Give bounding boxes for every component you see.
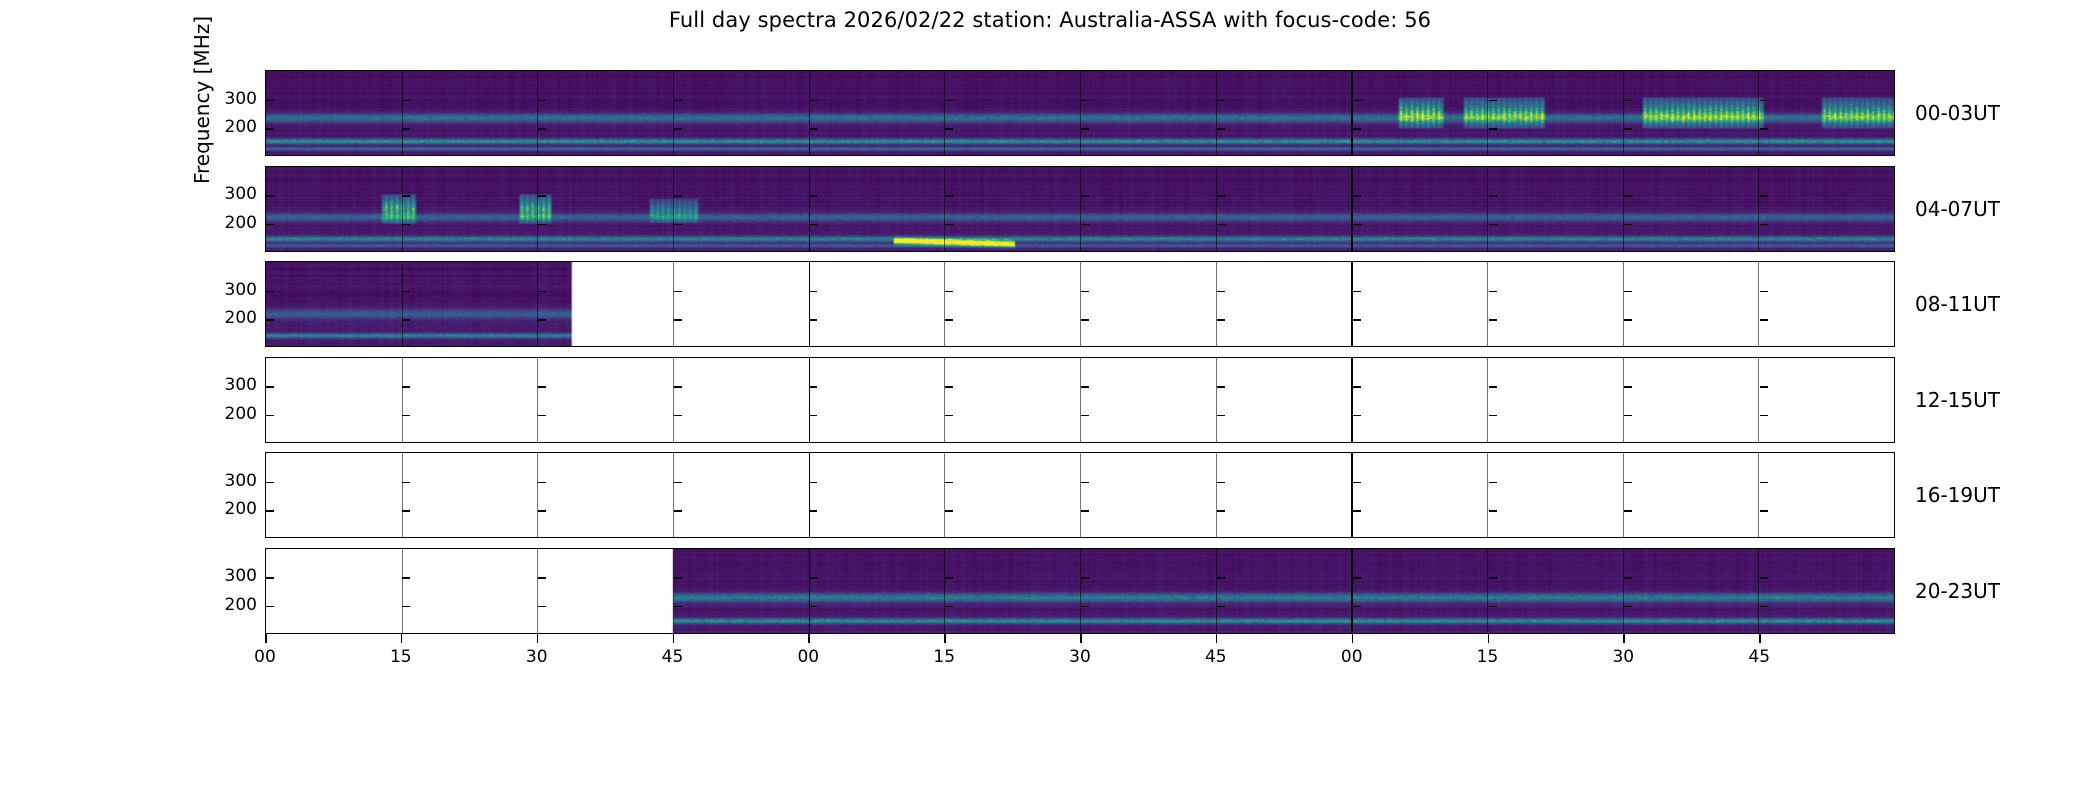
y-tick-label: 200 [225, 595, 257, 615]
x-tick [265, 634, 267, 643]
panel-divider [944, 453, 945, 537]
panel-divider [1487, 262, 1488, 346]
panel-divider [1758, 358, 1759, 442]
panel-divider [673, 453, 674, 537]
y-tick [266, 291, 274, 293]
panel-divider [1216, 167, 1217, 251]
x-tick-label: 00 [254, 647, 276, 667]
y-tick [945, 195, 953, 197]
row-label-12-15ut: 12-15UT [1915, 388, 2000, 412]
panel-divider [1623, 549, 1624, 633]
spectrogram-row-20-23ut [265, 548, 1895, 634]
x-tick [673, 634, 675, 643]
y-tick [1489, 319, 1497, 321]
y-tick [402, 415, 410, 417]
panel-divider [402, 262, 403, 346]
y-tick [945, 224, 953, 226]
y-tick [1353, 291, 1361, 293]
panel-divider [809, 167, 811, 251]
panel-divider [1080, 453, 1081, 537]
y-tick [1353, 319, 1361, 321]
panel-divider [1216, 71, 1217, 155]
y-tick [1624, 224, 1632, 226]
y-tick [674, 415, 682, 417]
panel-divider [673, 549, 674, 633]
y-tick [945, 415, 953, 417]
y-tick [1624, 606, 1632, 608]
y-axis-label: Frequency [MHz] [190, 0, 214, 260]
y-tick [1353, 128, 1361, 130]
panel-divider [1216, 262, 1217, 346]
y-tick [265, 100, 266, 102]
panel-divider [1623, 71, 1624, 155]
y-tick [265, 224, 266, 226]
y-tick [1081, 195, 1089, 197]
y-tick [265, 128, 266, 130]
y-tick [1760, 415, 1768, 417]
panel-divider [1487, 358, 1488, 442]
y-tick-label: 300 [225, 89, 257, 109]
y-tick [1624, 482, 1632, 484]
panel-divider [809, 71, 811, 155]
y-tick [809, 577, 817, 579]
y-tick [674, 577, 682, 579]
y-tick [945, 386, 953, 388]
y-tick [266, 319, 274, 321]
y-tick [1489, 386, 1497, 388]
x-tick [1216, 634, 1218, 643]
y-tick [1489, 415, 1497, 417]
y-tick [266, 510, 274, 512]
y-tick [402, 577, 410, 579]
panel-divider [1487, 453, 1488, 537]
y-tick [265, 291, 266, 293]
y-tick [1760, 195, 1768, 197]
panel-divider [1351, 549, 1353, 633]
panel-divider [537, 167, 538, 251]
y-tick [265, 606, 266, 608]
y-tick [1353, 510, 1361, 512]
y-tick [1353, 195, 1361, 197]
panel-divider [1758, 549, 1759, 633]
y-tick [538, 510, 546, 512]
y-tick [809, 415, 817, 417]
x-tick [1623, 634, 1625, 643]
y-tick [538, 128, 546, 130]
y-tick [538, 577, 546, 579]
page-title: Full day spectra 2026/02/22 station: Aus… [0, 8, 2100, 32]
panel-divider [1758, 167, 1759, 251]
panel-divider [673, 167, 674, 251]
y-tick [538, 606, 546, 608]
y-tick [674, 291, 682, 293]
y-tick [1353, 224, 1361, 226]
y-tick [945, 577, 953, 579]
row-label-08-11ut: 08-11UT [1915, 292, 2000, 316]
y-tick [402, 510, 410, 512]
y-tick [674, 224, 682, 226]
panel-divider [944, 358, 945, 442]
y-tick [1353, 415, 1361, 417]
panel-divider [809, 549, 811, 633]
y-tick [1081, 510, 1089, 512]
y-tick [266, 195, 274, 197]
panel-divider [1351, 453, 1353, 537]
y-tick [1624, 319, 1632, 321]
panel-divider [402, 167, 403, 251]
panel-divider [673, 262, 674, 346]
y-tick [1217, 577, 1225, 579]
panel-divider [673, 358, 674, 442]
y-tick [1353, 606, 1361, 608]
y-tick [945, 510, 953, 512]
x-tick-label: 45 [1748, 647, 1770, 667]
y-tick [1217, 224, 1225, 226]
x-tick-label: 15 [1477, 647, 1499, 667]
panel-divider [1351, 167, 1353, 251]
panel-divider [944, 262, 945, 346]
y-tick [1081, 606, 1089, 608]
y-tick [1081, 415, 1089, 417]
y-tick-label: 300 [225, 184, 257, 204]
y-tick [1489, 510, 1497, 512]
y-tick [1081, 100, 1089, 102]
panel-divider [1623, 453, 1624, 537]
y-tick [402, 100, 410, 102]
y-tick [945, 482, 953, 484]
spectrogram-row-08-11ut [265, 261, 1895, 347]
y-tick [266, 415, 274, 417]
x-tick [1488, 634, 1490, 643]
y-tick [1081, 577, 1089, 579]
y-tick [1353, 482, 1361, 484]
y-tick [1217, 100, 1225, 102]
y-tick [266, 577, 274, 579]
y-tick [1624, 195, 1632, 197]
x-tick [944, 634, 946, 643]
y-tick [1081, 128, 1089, 130]
panel-divider [673, 71, 674, 155]
panel-divider [944, 71, 945, 155]
y-tick [674, 128, 682, 130]
y-tick [1353, 577, 1361, 579]
x-tick [1759, 634, 1761, 643]
y-tick-label: 300 [225, 375, 257, 395]
y-tick [266, 100, 274, 102]
y-tick [1489, 128, 1497, 130]
y-tick [945, 128, 953, 130]
y-tick [265, 415, 266, 417]
y-tick [1624, 386, 1632, 388]
y-tick [1760, 386, 1768, 388]
y-tick [402, 386, 410, 388]
y-tick [1081, 291, 1089, 293]
x-tick-label: 30 [1612, 647, 1634, 667]
y-tick [538, 224, 546, 226]
panel-divider [1758, 453, 1759, 537]
y-tick [1489, 577, 1497, 579]
x-tick-label: 45 [662, 647, 684, 667]
y-tick [809, 291, 817, 293]
y-tick [809, 100, 817, 102]
panel-divider [1216, 453, 1217, 537]
panel-divider [809, 262, 811, 346]
y-tick [266, 606, 274, 608]
y-tick [674, 482, 682, 484]
y-tick [402, 128, 410, 130]
panel-divider [537, 71, 538, 155]
y-tick [1217, 128, 1225, 130]
y-tick-label: 300 [225, 566, 257, 586]
y-tick [266, 482, 274, 484]
y-tick [674, 100, 682, 102]
y-tick [1760, 510, 1768, 512]
row-label-00-03ut: 00-03UT [1915, 101, 2000, 125]
y-tick [538, 415, 546, 417]
y-tick [538, 100, 546, 102]
panel-divider [1758, 71, 1759, 155]
y-tick [674, 606, 682, 608]
panel-divider [1758, 262, 1759, 346]
y-tick [1489, 100, 1497, 102]
y-tick [266, 224, 274, 226]
y-tick-label: 200 [225, 308, 257, 328]
panel-divider [537, 549, 538, 633]
y-tick [402, 195, 410, 197]
y-tick [1081, 386, 1089, 388]
y-tick [674, 386, 682, 388]
y-tick-label: 200 [225, 404, 257, 424]
y-tick [538, 291, 546, 293]
y-tick [945, 100, 953, 102]
y-tick-label: 200 [225, 117, 257, 137]
y-tick [402, 224, 410, 226]
y-tick [674, 510, 682, 512]
y-tick [945, 291, 953, 293]
panel-divider [809, 358, 811, 442]
y-tick [1489, 482, 1497, 484]
y-tick-label: 200 [225, 213, 257, 233]
y-tick [1760, 100, 1768, 102]
y-tick [674, 195, 682, 197]
y-tick [809, 224, 817, 226]
y-tick [945, 319, 953, 321]
panel-divider [1487, 71, 1488, 155]
y-tick [538, 319, 546, 321]
y-tick [265, 577, 266, 579]
y-tick [265, 319, 266, 321]
panel-divider [1623, 262, 1624, 346]
x-tick-label: 30 [526, 647, 548, 667]
panel-divider [1080, 358, 1081, 442]
panel-divider [402, 549, 403, 633]
panel-divider [1487, 549, 1488, 633]
y-tick [1217, 415, 1225, 417]
panel-divider [1351, 262, 1353, 346]
y-tick [1217, 482, 1225, 484]
spectrogram-row-04-07ut [265, 166, 1895, 252]
y-tick [266, 386, 274, 388]
panel-divider [402, 453, 403, 537]
panel-divider [537, 453, 538, 537]
y-tick [809, 128, 817, 130]
panel-divider [1216, 549, 1217, 633]
panel-divider [1351, 71, 1353, 155]
y-tick [538, 195, 546, 197]
y-tick [1217, 386, 1225, 388]
x-tick [537, 634, 539, 643]
y-tick [265, 482, 266, 484]
y-tick [1624, 100, 1632, 102]
panel-divider [402, 71, 403, 155]
panel-divider [1623, 358, 1624, 442]
y-tick [1081, 224, 1089, 226]
y-tick [265, 386, 266, 388]
spectrogram-figure: Full day spectra 2026/02/22 station: Aus… [0, 0, 2100, 800]
x-tick-label: 15 [933, 647, 955, 667]
x-tick-label: 00 [1341, 647, 1363, 667]
x-tick [1352, 634, 1354, 643]
panel-divider [1080, 262, 1081, 346]
panel-divider [537, 358, 538, 442]
y-tick [809, 510, 817, 512]
y-tick [1217, 510, 1225, 512]
panel-divider [1216, 358, 1217, 442]
panel-divider [402, 358, 403, 442]
panel-divider [1080, 167, 1081, 251]
y-tick [809, 386, 817, 388]
panel-divider [1351, 358, 1353, 442]
row-label-20-23ut: 20-23UT [1915, 579, 2000, 603]
y-tick [945, 606, 953, 608]
y-tick [538, 482, 546, 484]
x-tick [401, 634, 403, 643]
y-tick [1624, 510, 1632, 512]
y-tick [1760, 577, 1768, 579]
y-tick [1081, 482, 1089, 484]
row-label-16-19ut: 16-19UT [1915, 483, 2000, 507]
y-tick [265, 510, 266, 512]
y-tick [809, 606, 817, 608]
panel-divider [1080, 71, 1081, 155]
y-tick [1217, 319, 1225, 321]
y-tick-label: 300 [225, 471, 257, 491]
x-tick-label: 00 [797, 647, 819, 667]
x-tick-label: 30 [1069, 647, 1091, 667]
panel-divider [537, 262, 538, 346]
y-tick [1353, 100, 1361, 102]
y-tick [266, 128, 274, 130]
y-tick [1489, 291, 1497, 293]
y-tick [402, 482, 410, 484]
y-tick [1217, 291, 1225, 293]
y-tick [402, 291, 410, 293]
y-tick [1353, 386, 1361, 388]
y-tick [1217, 195, 1225, 197]
y-tick [402, 606, 410, 608]
panel-divider [944, 549, 945, 633]
y-tick [1624, 415, 1632, 417]
spectrogram-row-16-19ut [265, 452, 1895, 538]
y-tick [1489, 195, 1497, 197]
y-tick [809, 195, 817, 197]
y-tick [1760, 224, 1768, 226]
y-tick-label: 300 [225, 280, 257, 300]
y-tick [1760, 291, 1768, 293]
x-tick-label: 45 [1205, 647, 1227, 667]
panel-divider [809, 453, 811, 537]
y-tick [809, 319, 817, 321]
y-tick [1624, 128, 1632, 130]
panel-divider [1080, 549, 1081, 633]
y-tick [1760, 482, 1768, 484]
panel-divider [944, 167, 945, 251]
y-tick [1624, 291, 1632, 293]
y-tick [1760, 606, 1768, 608]
y-tick [538, 386, 546, 388]
spectrogram-row-12-15ut [265, 357, 1895, 443]
y-tick [1217, 606, 1225, 608]
y-tick [265, 195, 266, 197]
panel-divider [1623, 167, 1624, 251]
y-tick [809, 482, 817, 484]
panel-divider [1487, 167, 1488, 251]
y-tick [1760, 128, 1768, 130]
x-tick [808, 634, 810, 643]
spectrogram-row-00-03ut [265, 70, 1895, 156]
y-tick [1760, 319, 1768, 321]
y-tick [1624, 577, 1632, 579]
x-tick-label: 15 [390, 647, 412, 667]
y-tick [1081, 319, 1089, 321]
y-tick [1489, 606, 1497, 608]
row-label-04-07ut: 04-07UT [1915, 197, 2000, 221]
y-tick [674, 319, 682, 321]
x-tick [1080, 634, 1082, 643]
y-tick-label: 200 [225, 499, 257, 519]
y-tick [1489, 224, 1497, 226]
y-tick [402, 319, 410, 321]
